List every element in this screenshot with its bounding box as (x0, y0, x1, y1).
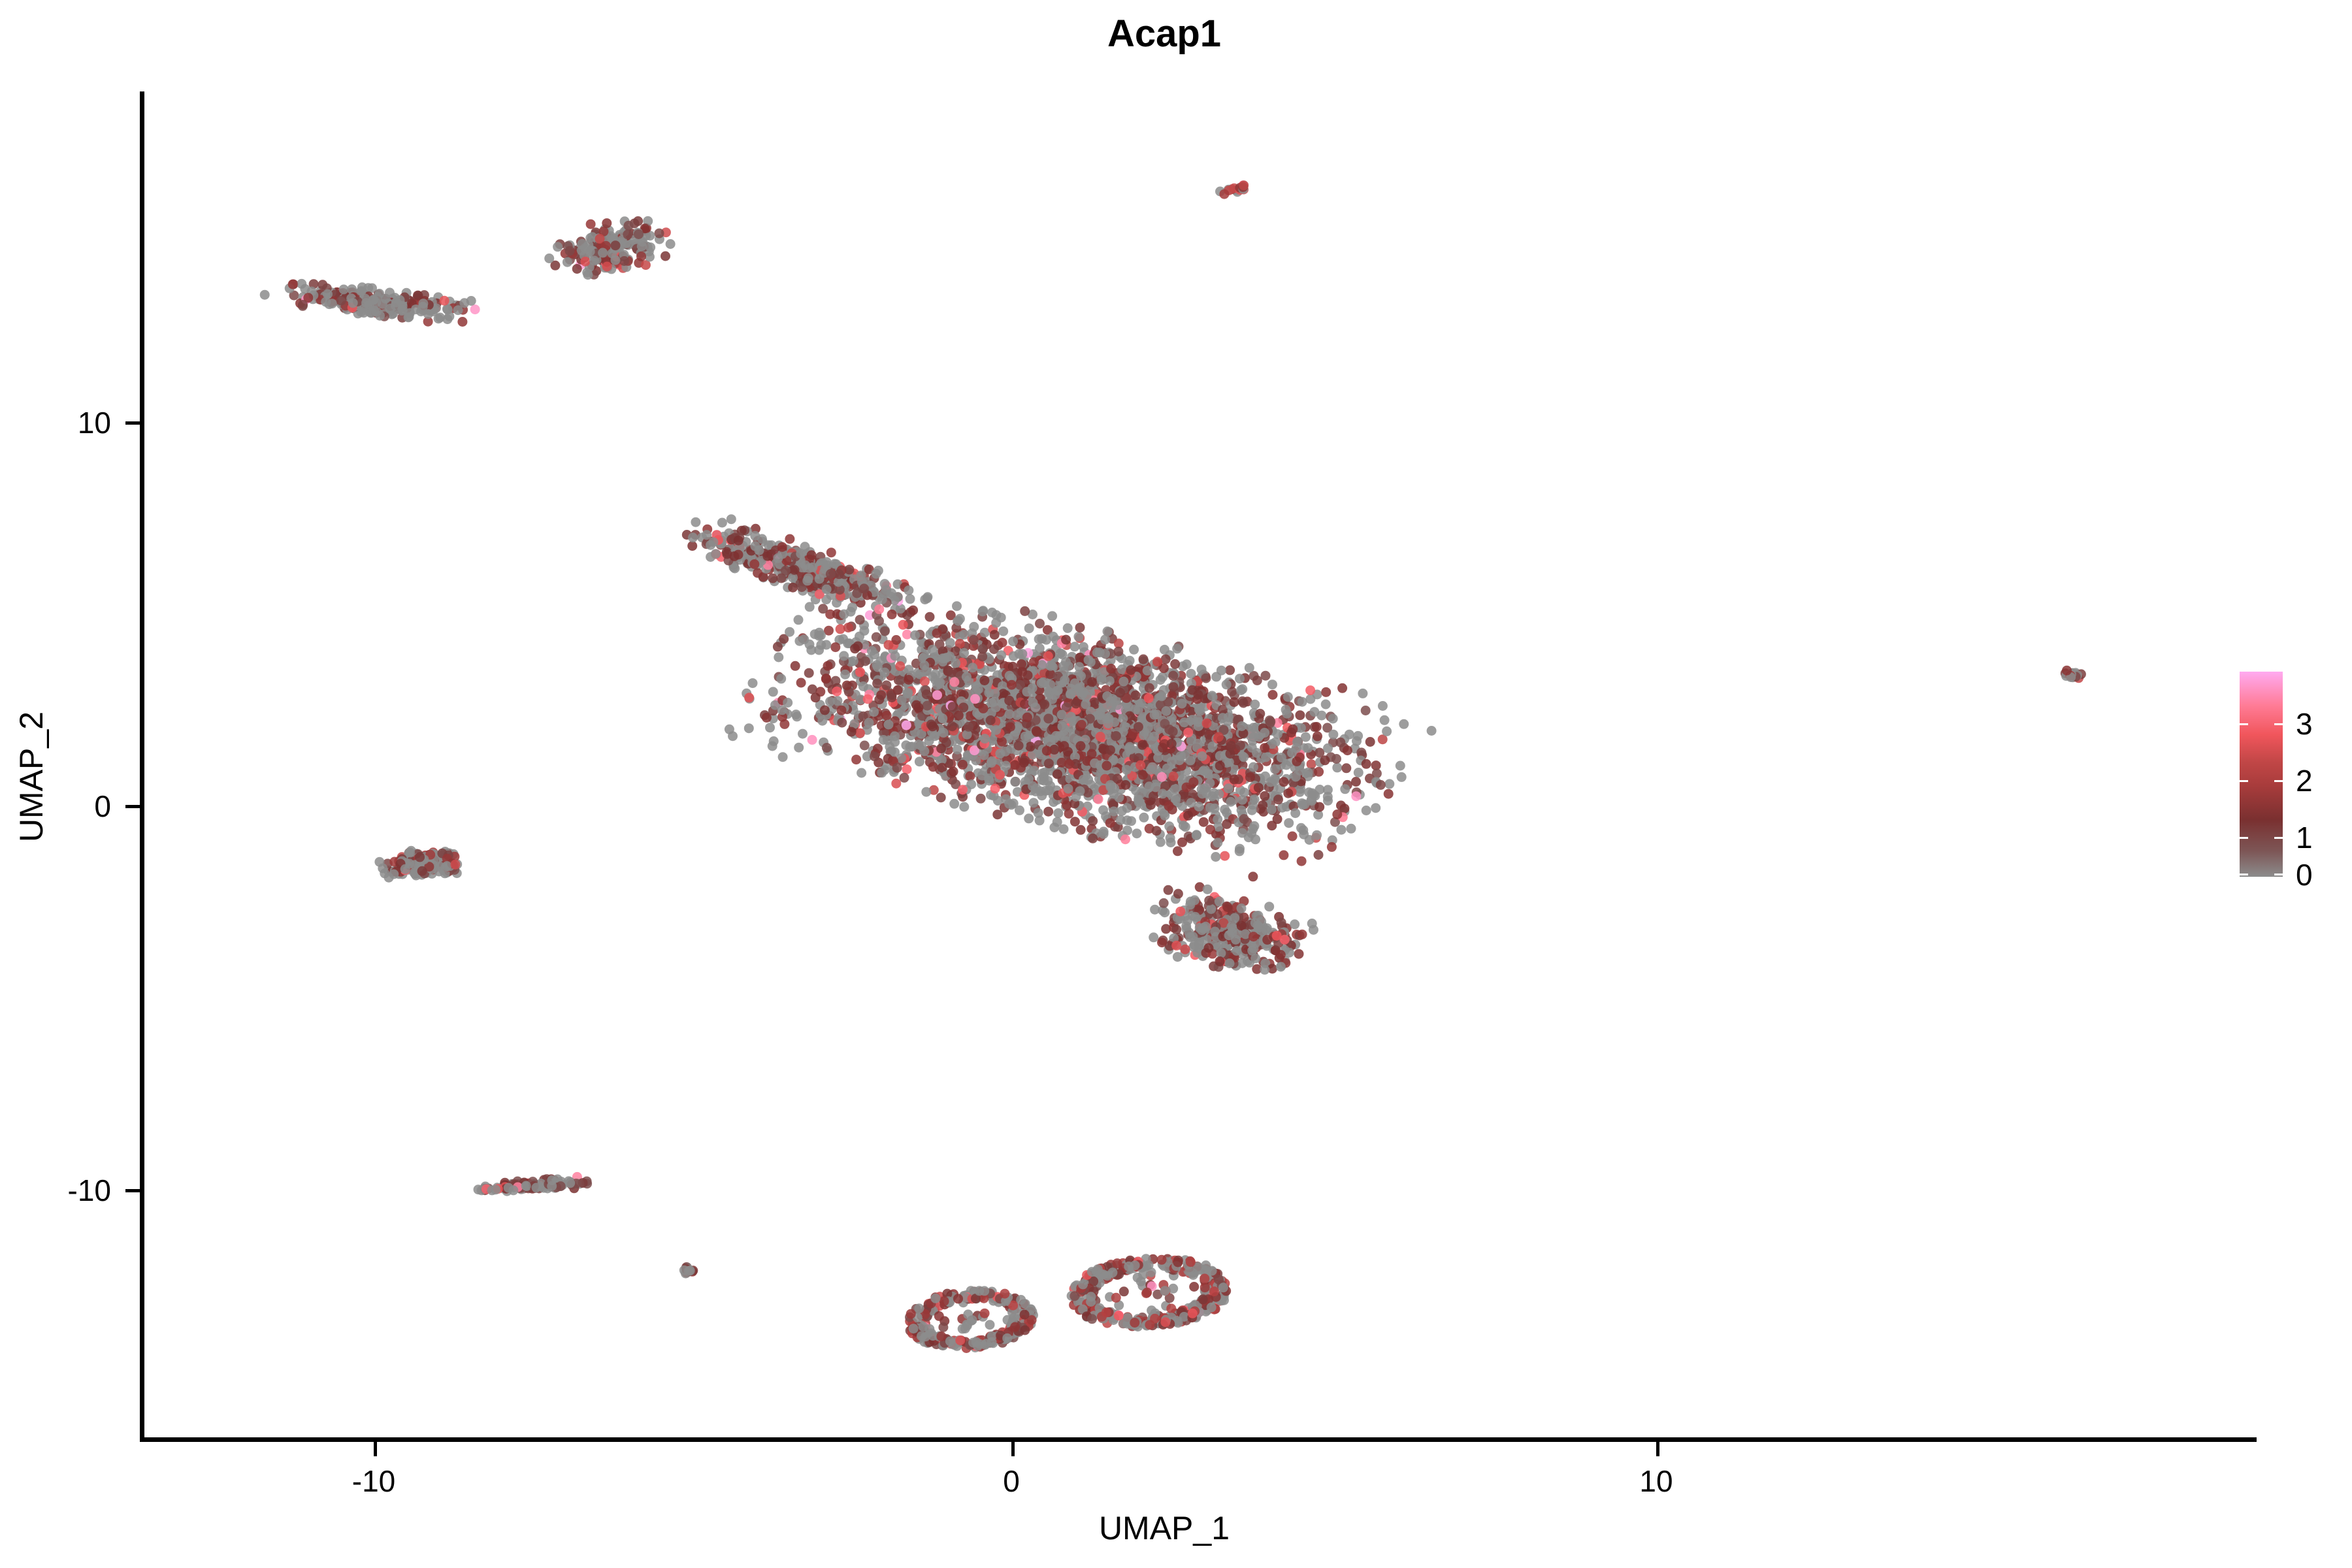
legend-label-3: 3 (2296, 709, 2313, 739)
x-tick-label-neg10: -10 (295, 1463, 452, 1499)
legend-label-2: 2 (2296, 766, 2313, 796)
colorbar-tick-0-left (2240, 874, 2248, 875)
plot-panel (144, 91, 2208, 1439)
y-tick-mark-neg10 (125, 1189, 140, 1192)
colorbar-legend: 3 2 1 0 (2240, 672, 2338, 877)
colorbar-tick-2-right (2274, 780, 2283, 782)
legend-label-1: 1 (2296, 823, 2313, 853)
page-title: Acap1 (0, 12, 2340, 56)
colorbar-tick-0-right (2274, 874, 2283, 875)
x-tick-mark-0 (1011, 1442, 1015, 1456)
y-axis-line (140, 91, 144, 1442)
x-tick-label-0: 0 (933, 1463, 1090, 1499)
y-axis-title: UMAP_2 (12, 45, 50, 1509)
colorbar-tick-1-left (2240, 837, 2248, 839)
x-axis-line (140, 1437, 2257, 1442)
scatter-points-layer (144, 91, 2208, 1439)
colorbar-tick-1-right (2274, 837, 2283, 839)
colorbar-tick-2-left (2240, 780, 2248, 782)
colorbar-tick-3-right (2274, 723, 2283, 725)
feature-plot-root: Acap1 10 0 -10 -10 0 10 UMAP_1 UMAP_2 3 … (0, 0, 2352, 1568)
colorbar-gradient (2240, 672, 2283, 877)
colorbar-tick-3-left (2240, 723, 2248, 725)
x-tick-mark-neg10 (374, 1442, 377, 1456)
y-tick-mark-0 (125, 805, 140, 808)
x-tick-label-10: 10 (1578, 1463, 1735, 1499)
legend-label-0: 0 (2296, 860, 2313, 890)
x-axis-title: UMAP_1 (0, 1509, 2340, 1547)
y-tick-mark-10 (125, 421, 140, 425)
x-tick-mark-10 (1656, 1442, 1659, 1456)
